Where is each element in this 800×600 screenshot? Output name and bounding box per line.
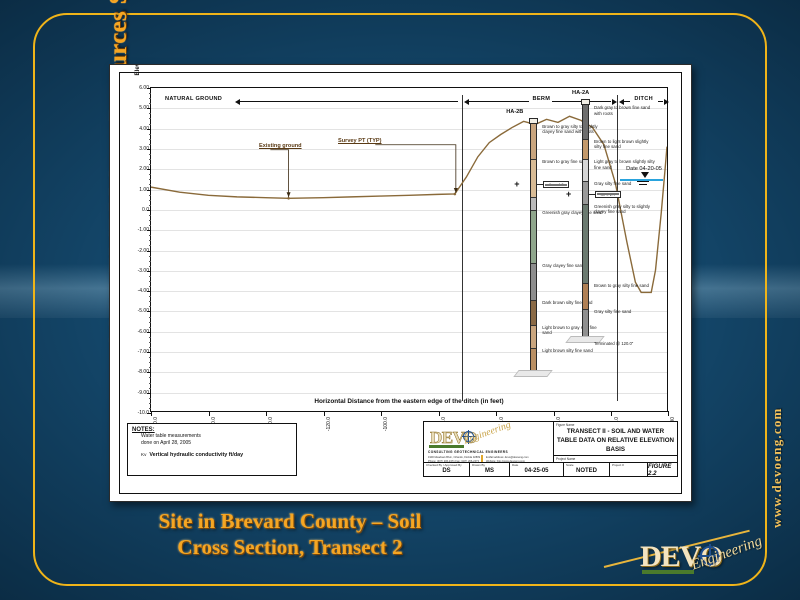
notes-kv-definition: KvVertical hydraulic conductivity ft/day [141,452,292,458]
leader-arrow-head [287,192,291,197]
engineering-drawing-image: Elevations relative to the water level i… [109,64,692,502]
notes-box: NOTES: Water table measurements done on … [127,423,297,476]
field-value: DS [442,468,450,474]
soil-layer [531,124,536,160]
soil-layer [583,283,588,309]
field-caption: Checked By / Approved By [426,464,462,467]
x-tick-label: -100.0 [383,417,389,431]
boring-id-label: HA-2B [506,109,523,115]
title-block-text-cells: Figure Name TRANSECT II - SOIL AND WATER… [554,422,677,462]
water-table-triangle-icon [641,172,649,178]
boring-id-label: HA-2A [572,90,589,96]
boring-termination-label: Terminated @ 120.0" [594,341,633,346]
soil-layer-description: Light brown to gray silty fine sand [542,325,604,336]
tb-logo-script: Engineering [462,419,512,446]
soil-layer [583,159,588,181]
soil-layer [583,181,588,203]
survey-point-marker [287,197,290,200]
water-level-plus-marker: + [566,190,571,199]
soil-layer-description: Gray clayey fine sand [542,263,604,269]
x-tick-mark [209,411,210,416]
soil-layer [531,197,536,210]
annotation-existing-ground: Existing ground [259,143,302,149]
kv-description: Vertical hydraulic conductivity ft/day [149,452,243,458]
boring-log-ha-2a: Dark gray to brown fine sand with rootsB… [582,104,589,336]
figure-title-line-1: TRANSECT II - SOIL AND WATER [557,428,674,437]
soil-layer-description: Gray silty fine sand [594,309,656,315]
slide-title-line2: Cross Section, Transect 2 [60,534,520,560]
soil-layer [583,204,588,283]
kv-symbol: Kv [141,452,146,457]
field-value: 04-25-05 [524,468,548,474]
slide-title-line1: Site in Brevard County – Soil [159,509,422,533]
field-caption: Date [512,464,518,467]
soil-layer [531,300,536,324]
figure-name-caption: Figure Name [556,423,574,427]
soil-layer [531,159,536,197]
soil-layer [583,139,588,159]
soil-layer [531,210,536,263]
right-vertical-website: www.devoeng.com [769,328,785,528]
soil-layer-description: Light gray to brown slightly silty fine … [594,159,656,170]
soil-layer-description: Greenish gray silty to slightly clayey f… [594,204,656,215]
leader-existing-ground [270,150,288,198]
figure-title-cell: Figure Name TRANSECT II - SOIL AND WATER… [554,422,677,456]
soil-layer-description: Brown to gray silty fine sand [594,283,656,289]
title-block-fields-row: Checked By / Approved ByDSDrawn ByMSDate… [424,463,677,476]
soil-layer [531,263,536,301]
drawing-sheet: Elevations relative to the water level i… [119,72,682,494]
survey-point-marker [454,193,457,196]
devo-logo: DEVO Engineering [640,536,770,592]
notes-line-2: done on April 28, 2005 [141,440,292,447]
x-tick-mark [266,411,267,416]
field-value: FIGURE 2.2 [648,463,677,477]
soil-layer-description: Dark brown silty fine sand [542,300,604,306]
tb-logo-subtitle: CONSULTING GEOTECHNICAL ENGINEERS [428,450,508,454]
existing-ground-profile [151,88,667,412]
field-value: NOTED [576,468,597,474]
y-axis-label: Elevations relative to the water level i… [134,64,141,128]
x-tick-mark [668,411,669,416]
boring-column [582,104,589,336]
boring-base-shadow [513,370,552,377]
slide-title: Site in Brevard County – Soil Cross Sect… [60,508,520,561]
soil-layer-description: Brown to gray silty to slightly clayey f… [542,124,604,135]
figure-title-line-2: TABLE DATA ON RELATIVE ELEVATION BASIS [557,437,674,455]
boring-top-cap [581,99,590,105]
water-level-plus-marker: + [514,180,519,189]
boring-log-ha-2b: Brown to gray silty to slightly clayey f… [530,123,537,371]
kv-value-tag: Kv = 2.7 [595,191,621,198]
x-tick-mark [554,411,555,416]
title-block-field: Project # [610,463,648,476]
title-block-field: ScaleNOTED [564,463,610,476]
field-caption: Drawn By [472,464,485,467]
leader-survey-point [375,145,456,193]
tb-logo-divider [481,455,483,462]
project-name-cell: Project Name [554,456,677,462]
title-block-upper: DEVO Engineering CONSULTING GEOTECHNICAL… [424,422,677,463]
boring-column [530,123,537,371]
boring-top-cap [529,118,538,124]
soil-layer-description: Light brown silty fine sand [542,348,604,354]
drawing-title-block: DEVO Engineering CONSULTING GEOTECHNICAL… [423,421,678,477]
x-tick-mark [439,411,440,416]
title-block-field: Drawn ByMS [470,463,510,476]
annotation-survey-point: Survey PT (TYP) [338,138,382,144]
cross-section-plot: Elevations relative to the water level i… [150,87,668,412]
soil-layer-description: Brown to light brown slightly silty fine… [594,139,656,150]
x-tick-mark [324,411,325,416]
logo-green-bar [642,570,694,574]
title-block-field: Checked By / Approved ByDS [424,463,470,476]
x-tick-label: -120.0 [326,417,332,431]
soil-layer [531,325,536,348]
kv-value-tag: Kv = 4.3 [543,181,569,188]
x-tick-mark [496,411,497,416]
x-tick-mark [151,411,152,416]
x-tick-mark [611,411,612,416]
title-block-logo-cell: DEVO Engineering CONSULTING GEOTECHNICAL… [424,422,554,462]
title-block-field: Date04-25-05 [510,463,564,476]
soil-layer [583,105,588,139]
soil-layer [583,309,588,336]
soil-layer-description: Dark gray to brown fine sand with roots [594,105,656,116]
soil-layer [531,348,536,371]
soil-layer-description: Gray silty fine sand [594,181,656,187]
title-block-field: FIGURE 2.2 [648,463,677,476]
project-name-caption: Project Name [556,457,575,461]
field-caption: Project # [612,464,624,467]
notes-line-1: Water table measurements [141,433,292,440]
x-tick-mark [381,411,382,416]
field-caption: Scale [566,464,574,467]
tb-green-bar [429,445,464,448]
field-value: MS [485,468,494,474]
